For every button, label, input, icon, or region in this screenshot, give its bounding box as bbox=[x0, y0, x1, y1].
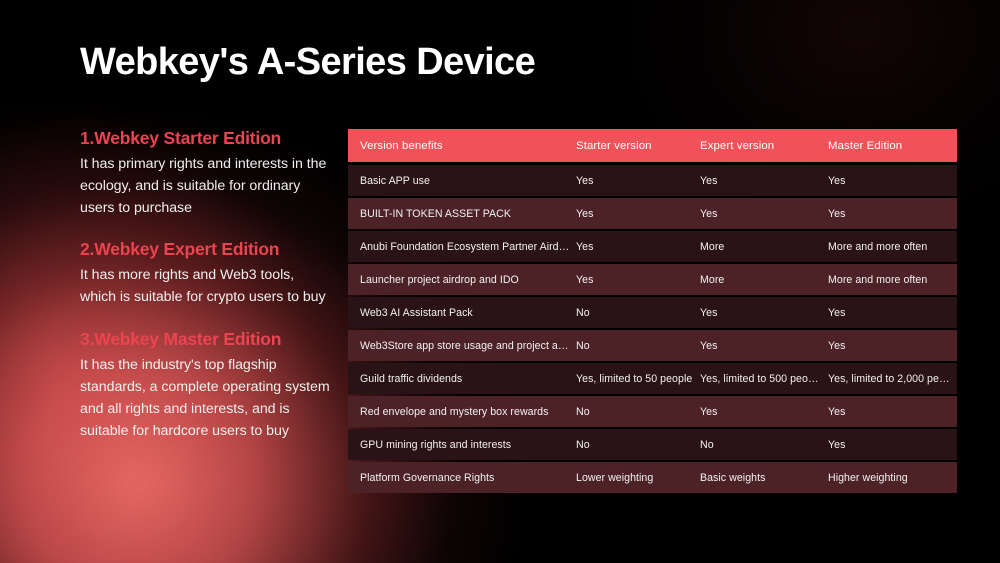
edition-item-expert: 2.Webkey Expert Edition It has more righ… bbox=[80, 239, 332, 309]
row-value-master: More and more often bbox=[828, 274, 957, 286]
table-row: Anubi Foundation Ecosystem Partner Airdr… bbox=[348, 231, 957, 262]
row-value-starter: Yes bbox=[576, 241, 700, 253]
row-label: Platform Governance Rights bbox=[348, 472, 576, 484]
row-value-master: Yes, limited to 2,000 people bbox=[828, 373, 957, 385]
row-value-master: Yes bbox=[828, 307, 957, 319]
row-label: GPU mining rights and interests bbox=[348, 439, 576, 451]
table-row: Red envelope and mystery box rewards No … bbox=[348, 396, 957, 427]
table-row: BUILT-IN TOKEN ASSET PACK Yes Yes Yes bbox=[348, 198, 957, 229]
row-value-expert: Yes, limited to 500 people bbox=[700, 373, 828, 385]
edition-heading: 3.Webkey Master Edition bbox=[80, 329, 332, 351]
edition-description: It has more rights and Web3 tools, which… bbox=[80, 265, 332, 309]
edition-description: It has primary rights and interests in t… bbox=[80, 154, 332, 220]
edition-item-starter: 1.Webkey Starter Edition It has primary … bbox=[80, 128, 332, 219]
row-value-starter: Yes bbox=[576, 274, 700, 286]
row-value-master: More and more often bbox=[828, 241, 957, 253]
row-value-expert: More bbox=[700, 241, 828, 253]
row-value-starter: No bbox=[576, 307, 700, 319]
row-value-master: Yes bbox=[828, 406, 957, 418]
row-value-starter: Lower weighting bbox=[576, 472, 700, 484]
table-header-row: Version benefits Starter version Expert … bbox=[348, 129, 957, 162]
edition-heading: 1.Webkey Starter Edition bbox=[80, 128, 332, 150]
row-value-expert: Yes bbox=[700, 175, 828, 187]
row-value-starter: No bbox=[576, 406, 700, 418]
row-value-expert: More bbox=[700, 274, 828, 286]
row-value-expert: Yes bbox=[700, 406, 828, 418]
table-row: Platform Governance Rights Lower weighti… bbox=[348, 462, 957, 493]
row-value-starter: Yes bbox=[576, 208, 700, 220]
comparison-table: Version benefits Starter version Expert … bbox=[348, 129, 957, 493]
row-value-starter: Yes bbox=[576, 175, 700, 187]
page-title: Webkey's A-Series Device bbox=[80, 41, 535, 84]
row-value-master: Yes bbox=[828, 175, 957, 187]
slide-canvas: Webkey's A-Series Device 1.Webkey Starte… bbox=[0, 0, 1000, 563]
row-label: Guild traffic dividends bbox=[348, 373, 576, 385]
edition-heading: 2.Webkey Expert Edition bbox=[80, 239, 332, 261]
table-row: GPU mining rights and interests No No Ye… bbox=[348, 429, 957, 460]
row-label: Anubi Foundation Ecosystem Partner Airdr… bbox=[348, 241, 576, 253]
row-value-master: Yes bbox=[828, 208, 957, 220]
edition-item-master: 3.Webkey Master Edition It has the indus… bbox=[80, 329, 332, 442]
row-value-starter: Yes, limited to 50 people bbox=[576, 373, 700, 385]
row-value-starter: No bbox=[576, 439, 700, 451]
row-value-expert: Yes bbox=[700, 340, 828, 352]
table-row: Web3 AI Assistant Pack No Yes Yes bbox=[348, 297, 957, 328]
column-header-expert: Expert version bbox=[700, 140, 828, 152]
row-label: BUILT-IN TOKEN ASSET PACK bbox=[348, 208, 576, 220]
column-header-starter: Starter version bbox=[576, 140, 700, 152]
edition-description: It has the industry's top flagship stand… bbox=[80, 355, 332, 442]
editions-list: 1.Webkey Starter Edition It has primary … bbox=[80, 128, 332, 442]
row-value-master: Higher weighting bbox=[828, 472, 957, 484]
table-row: Web3Store app store usage and project ai… bbox=[348, 330, 957, 361]
row-value-starter: No bbox=[576, 340, 700, 352]
row-label: Web3 AI Assistant Pack bbox=[348, 307, 576, 319]
row-value-expert: Yes bbox=[700, 307, 828, 319]
row-value-master: Yes bbox=[828, 340, 957, 352]
row-label: Basic APP use bbox=[348, 175, 576, 187]
row-label: Web3Store app store usage and project ai… bbox=[348, 340, 576, 352]
column-header-benefits: Version benefits bbox=[348, 140, 576, 152]
row-value-master: Yes bbox=[828, 439, 957, 451]
column-header-master: Master Edition bbox=[828, 140, 957, 152]
row-value-expert: Basic weights bbox=[700, 472, 828, 484]
row-label: Launcher project airdrop and IDO bbox=[348, 274, 576, 286]
row-label: Red envelope and mystery box rewards bbox=[348, 406, 576, 418]
row-value-expert: No bbox=[700, 439, 828, 451]
table-row: Launcher project airdrop and IDO Yes Mor… bbox=[348, 264, 957, 295]
table-row: Guild traffic dividends Yes, limited to … bbox=[348, 363, 957, 394]
table-row: Basic APP use Yes Yes Yes bbox=[348, 165, 957, 196]
row-value-expert: Yes bbox=[700, 208, 828, 220]
